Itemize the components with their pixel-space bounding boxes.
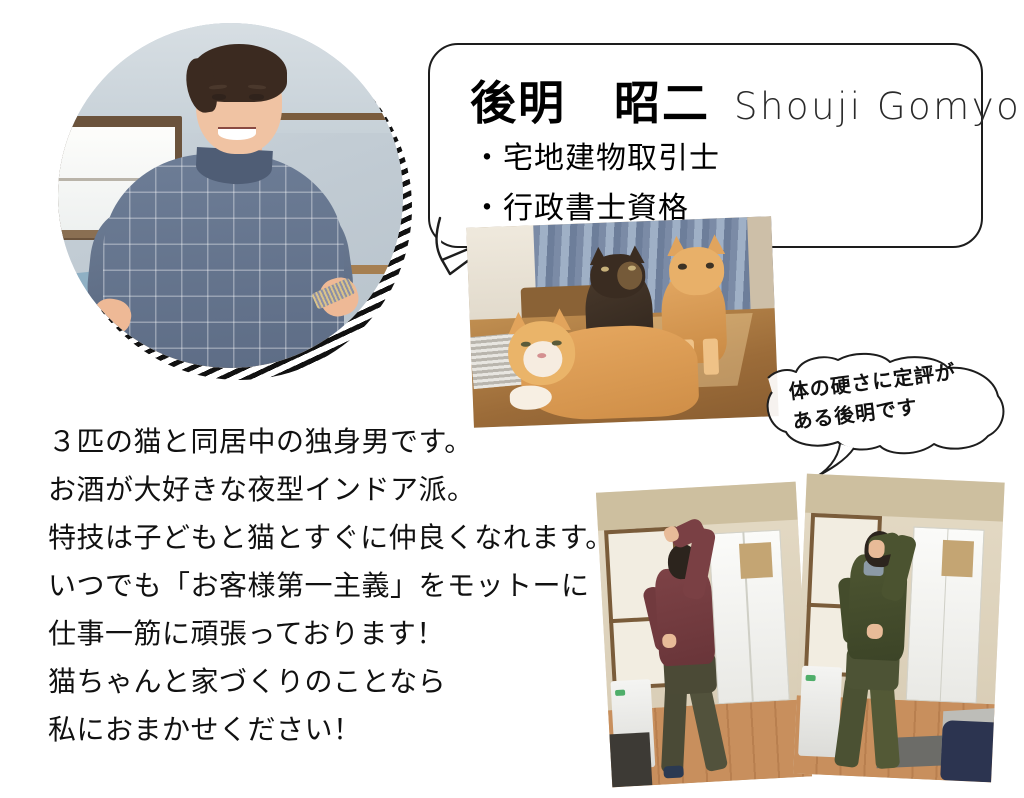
name-romaji: Shouji Gomyo: [734, 85, 1021, 128]
bio-line-4: いつでも「お客様第一主義」をモットーに: [48, 562, 628, 610]
bio-line-1: ３匹の猫と同居中の独身男です。: [48, 418, 628, 466]
stretch-photo-right: [793, 474, 1004, 783]
handwritten-speech-bubble: 体の硬さに定評が ある後明です: [762, 352, 1017, 482]
stretch-photo-left: [596, 482, 812, 788]
portrait-photo: [58, 23, 403, 368]
credential-item-1: ・宅地建物取引士: [472, 133, 720, 177]
cats-photo: [466, 216, 778, 428]
profile-card-canvas: 後明 昭二 Shouji Gomyo ・宅地建物取引士 ・行政書士資格: [0, 0, 1024, 798]
name-row: 後明 昭二 Shouji Gomyo: [470, 67, 1021, 133]
bio-text-block: ３匹の猫と同居中の独身男です。 お酒が大好きな夜型インドア派。 特技は子どもと猫…: [48, 418, 628, 754]
name-japanese: 後明 昭二: [470, 67, 710, 133]
bio-line-7: 私におまかせください！: [48, 706, 628, 754]
bio-line-5: 仕事一筋に頑張っております！: [48, 610, 628, 658]
portrait-photo-image: [58, 23, 403, 368]
bio-line-6: 猫ちゃんと家づくりのことなら: [48, 658, 628, 706]
name-speech-bubble: 後明 昭二 Shouji Gomyo ・宅地建物取引士 ・行政書士資格: [428, 43, 983, 248]
bio-line-2: お酒が大好きな夜型インドア派。: [48, 466, 628, 514]
bio-line-3: 特技は子どもと猫とすぐに仲良くなれます。: [48, 514, 628, 562]
